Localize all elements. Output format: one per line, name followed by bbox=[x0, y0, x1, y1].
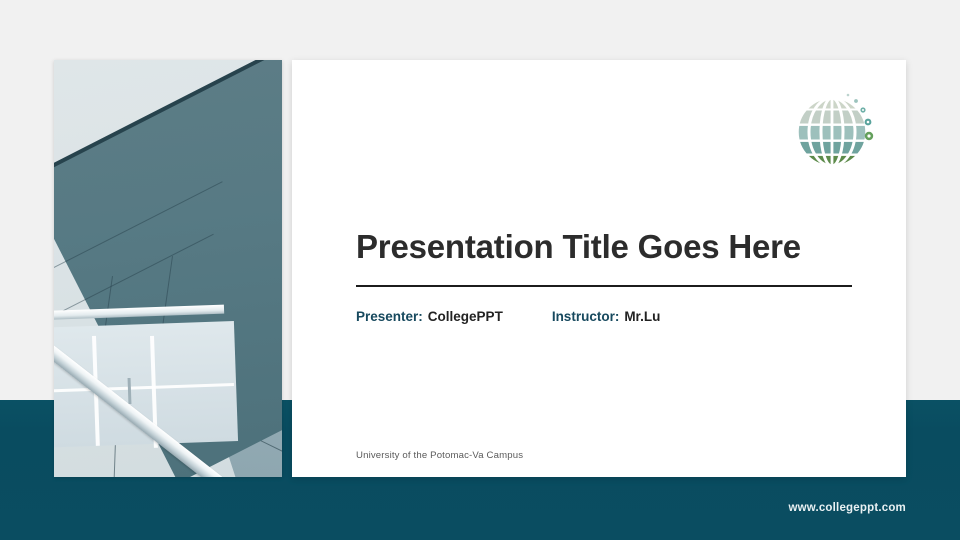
content-card: Presentation Title Goes Here Presenter: … bbox=[292, 60, 906, 477]
page-title: Presentation Title Goes Here bbox=[356, 228, 866, 266]
instructor-value: Mr.Lu bbox=[624, 309, 660, 324]
presenter-value: CollegePPT bbox=[428, 309, 503, 324]
institution-footnote: University of the Potomac-Va Campus bbox=[356, 450, 523, 461]
title-divider bbox=[356, 285, 852, 287]
instructor-block: Instructor: Mr.Lu bbox=[552, 309, 661, 324]
presenter-label: Presenter: bbox=[356, 309, 423, 324]
presentation-slide: www.collegeppt.com bbox=[0, 0, 960, 540]
instructor-label: Instructor: bbox=[552, 309, 620, 324]
architecture-photo bbox=[54, 60, 282, 477]
meta-row: Presenter: CollegePPT Instructor: Mr.Lu bbox=[356, 309, 660, 324]
photo-inner bbox=[54, 60, 282, 477]
presenter-block: Presenter: CollegePPT bbox=[356, 309, 503, 324]
site-url: www.collegeppt.com bbox=[788, 502, 906, 514]
globe-logo-icon bbox=[790, 82, 882, 174]
